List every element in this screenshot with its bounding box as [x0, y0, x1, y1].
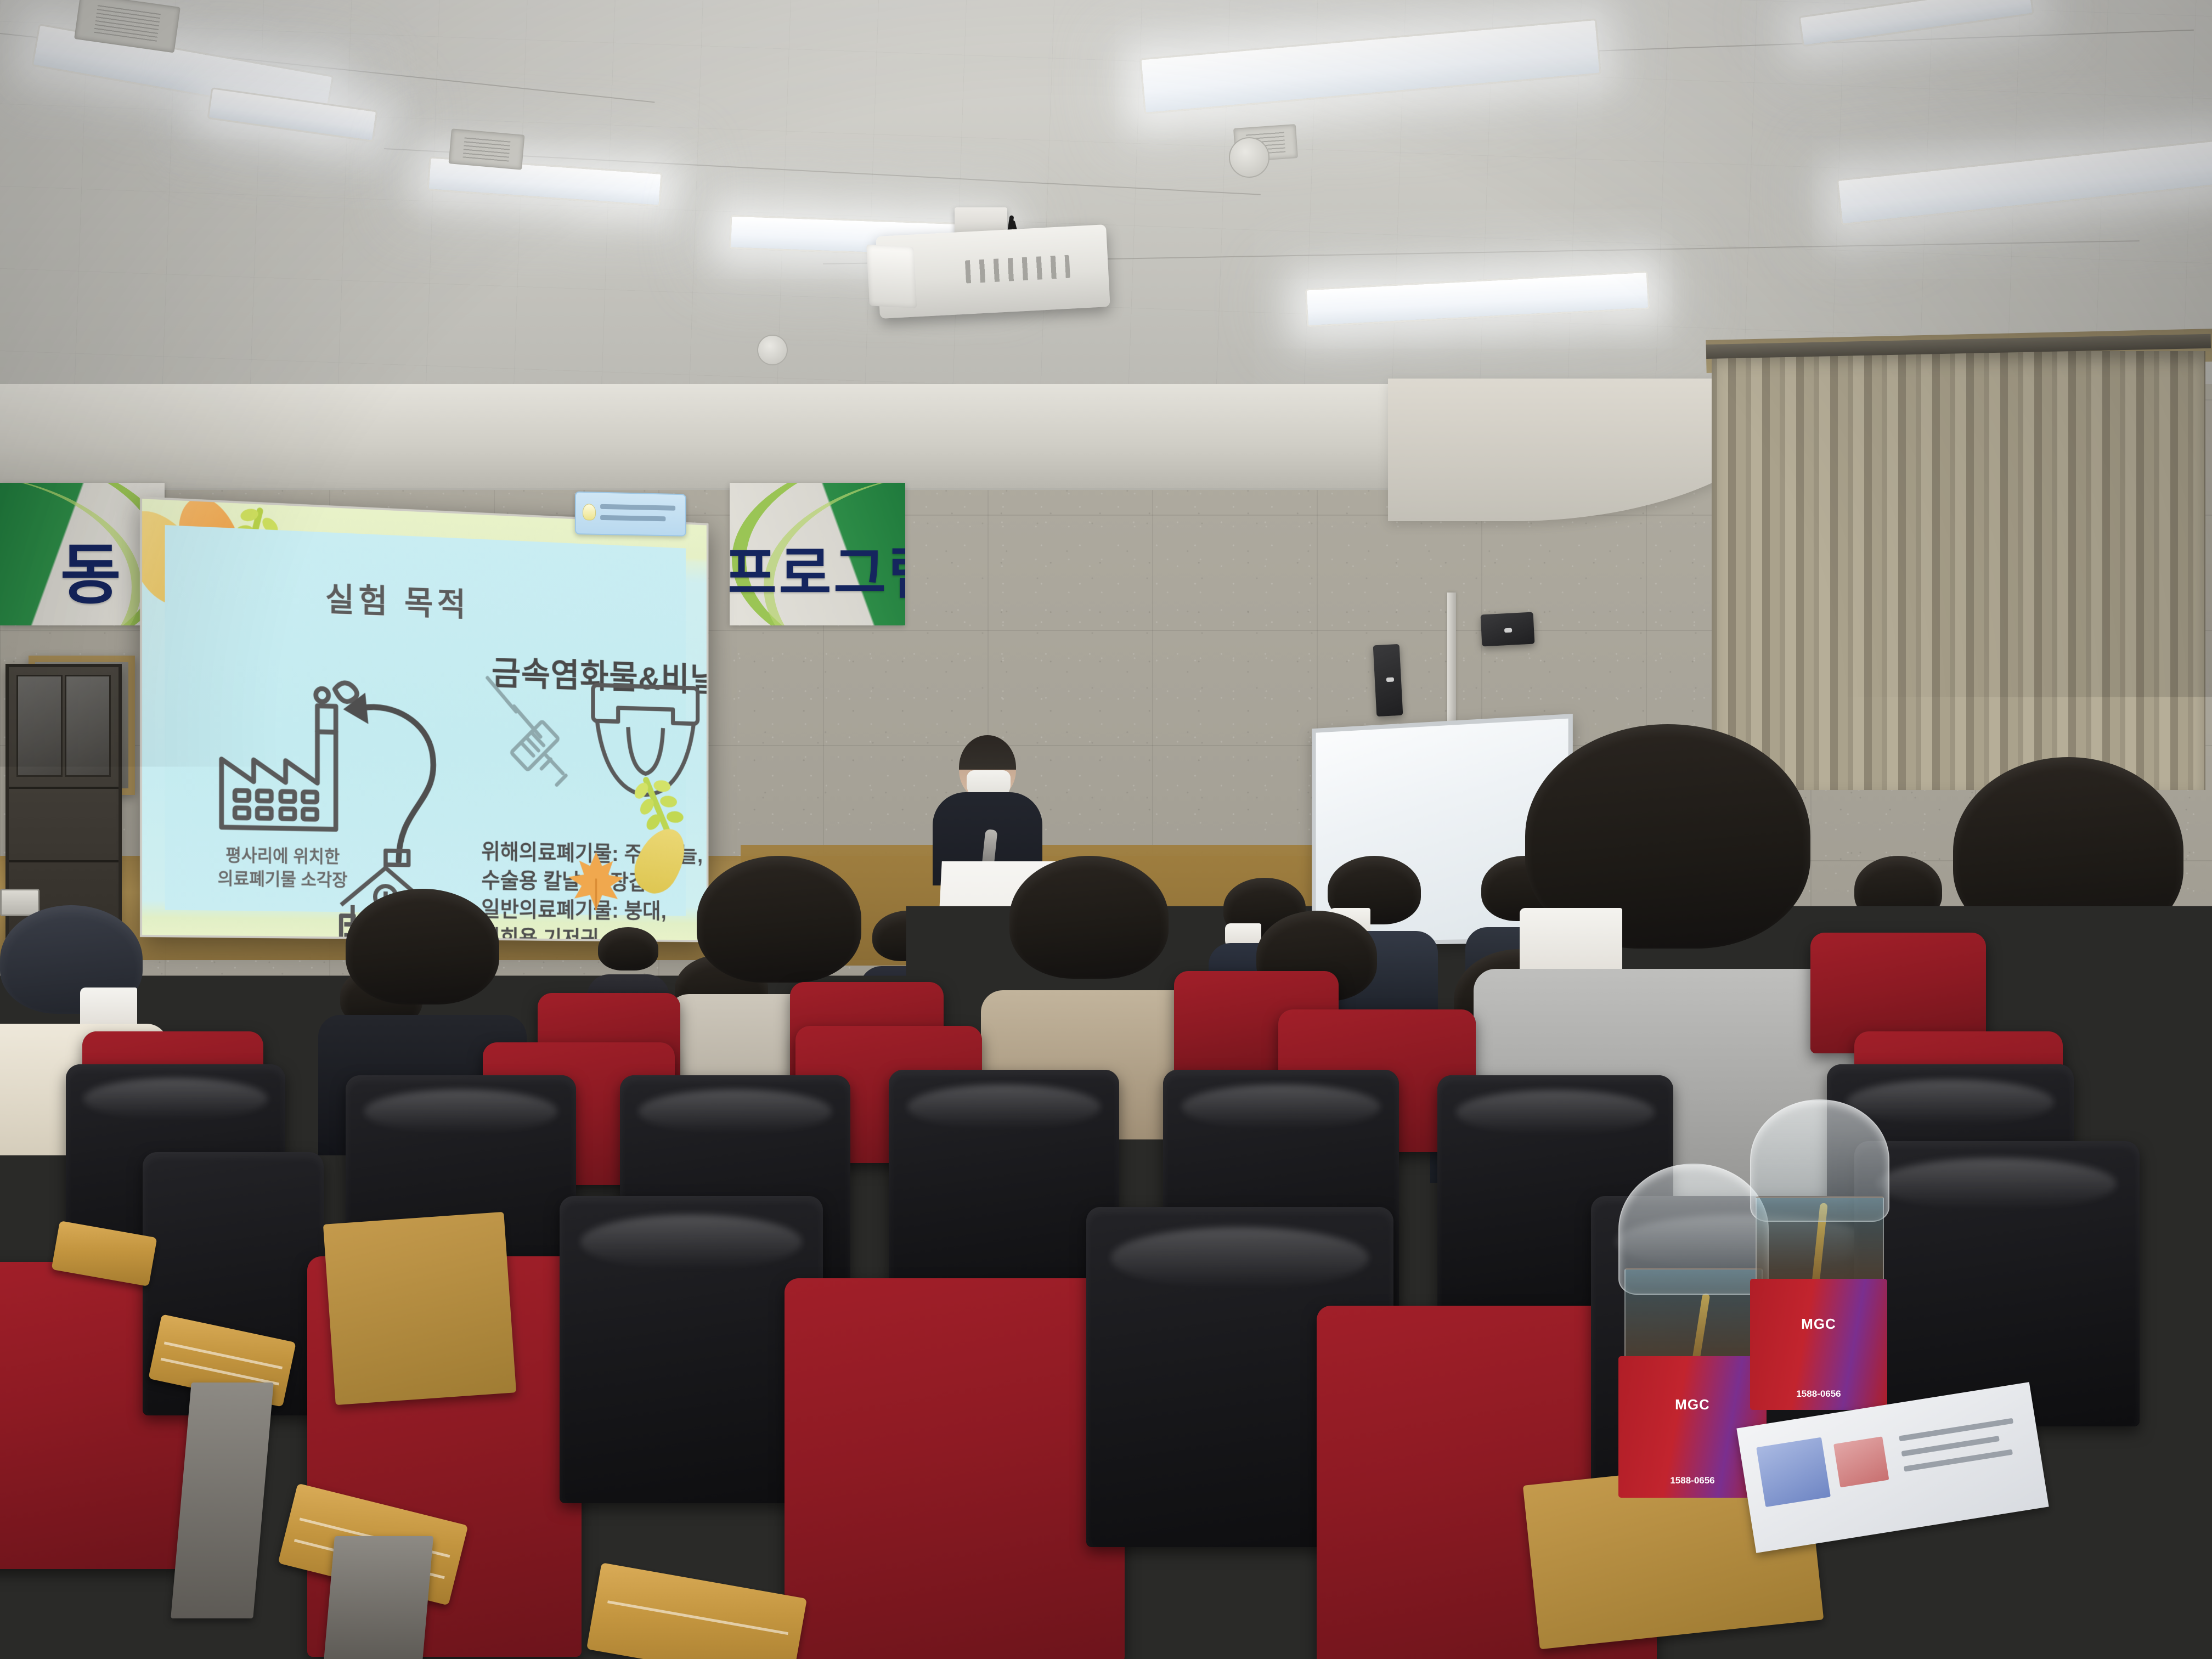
audience-person [1525, 724, 1810, 1064]
projection-screen: 실험 목적 금속염화물&비닐 수지류 [140, 496, 708, 943]
auditorium-seat[interactable] [560, 1196, 823, 1503]
smoke-detector-icon [1229, 137, 1269, 178]
iced-coffee-cup[interactable]: MGC 1588-0656 [1750, 1125, 1887, 1410]
audience-person [1009, 856, 1169, 1042]
wall-speaker [1481, 612, 1535, 647]
seat-highlight [639, 1090, 832, 1133]
auditorium-seat[interactable] [1854, 1141, 2140, 1426]
seat-highlight [1182, 1085, 1380, 1129]
seat-highlight [364, 1090, 558, 1133]
cabinet-door-seam [9, 787, 119, 789]
audience-person [346, 889, 499, 1064]
leaflet-graphic [1756, 1437, 1831, 1507]
brand-logo-text: MGC [1801, 1316, 1836, 1333]
audience-person [1953, 757, 2183, 1042]
seat-highlight [907, 1085, 1101, 1129]
person-hair [1009, 856, 1169, 979]
seat-highlight [1847, 1080, 2054, 1125]
slide-content-area: 실험 목적 금속염화물&비닐 수지류 [165, 525, 686, 916]
brand-phone-text: 1588-0656 [1670, 1475, 1714, 1486]
seat-highlight [1456, 1090, 1654, 1135]
person-hair [872, 911, 944, 961]
fold-down-tray[interactable] [323, 1212, 516, 1405]
lecture-hall-photo: 동 프로그램 실험 목적 금속염화물&비닐 수지류 [0, 0, 2212, 1659]
seat-highlight [580, 1215, 802, 1270]
lightbulb-icon [583, 504, 596, 521]
ceiling-projector [876, 224, 1110, 319]
person-hair [346, 889, 499, 1005]
person-hair [1953, 757, 2183, 945]
armrest-inlay [607, 1600, 788, 1635]
person-hair [598, 927, 658, 970]
maple-leaf-icon [566, 849, 626, 913]
wall-speaker [1373, 644, 1403, 716]
banner-right-text: 프로그램 [730, 527, 905, 610]
seat-highlight [83, 1078, 268, 1120]
brand-logo-text: MGC [1675, 1396, 1710, 1413]
projector-lens-icon [866, 244, 917, 308]
seat-highlight [1877, 1158, 2117, 1210]
seat-highlight [1111, 1227, 1369, 1289]
tip-line-1 [600, 504, 675, 511]
cup-sleeve: MGC 1588-0656 [1750, 1279, 1887, 1410]
leaflet-graphic [1833, 1436, 1889, 1487]
person-hair [697, 856, 861, 983]
seat-cushion [785, 1278, 1125, 1659]
seat-pedestal [324, 1536, 433, 1659]
banner-left-text: 동 [60, 521, 123, 617]
armrest-inlay [164, 1341, 283, 1369]
powerpoint-tip-tooltip[interactable] [575, 492, 686, 537]
wall-banner-right: 프로그램 [730, 483, 905, 625]
audience-person [872, 911, 944, 988]
projector-ports [965, 255, 1070, 284]
presentation-slide: 실험 목적 금속염화물&비닐 수지류 [142, 499, 707, 940]
ceiling-bulkhead [0, 384, 1591, 490]
syringe-icon [476, 672, 578, 802]
slide-title: 실험 목적 [325, 573, 470, 625]
ceiling-vent [448, 128, 524, 170]
cabinet-glass-pane [65, 675, 111, 777]
audience-person [598, 927, 658, 993]
tip-line-2 [600, 515, 665, 521]
smoke-detector-icon [757, 335, 788, 365]
auditorium-seat[interactable] [785, 1278, 1125, 1659]
camera-module-icon [1691, 1548, 1736, 1594]
curved-arrow-icon [320, 670, 455, 866]
cabinet-glass-pane [16, 675, 63, 777]
cabinet-door-seam [9, 860, 119, 862]
smartphone[interactable] [1673, 1521, 1842, 1652]
brand-phone-text: 1588-0656 [1796, 1389, 1841, 1400]
